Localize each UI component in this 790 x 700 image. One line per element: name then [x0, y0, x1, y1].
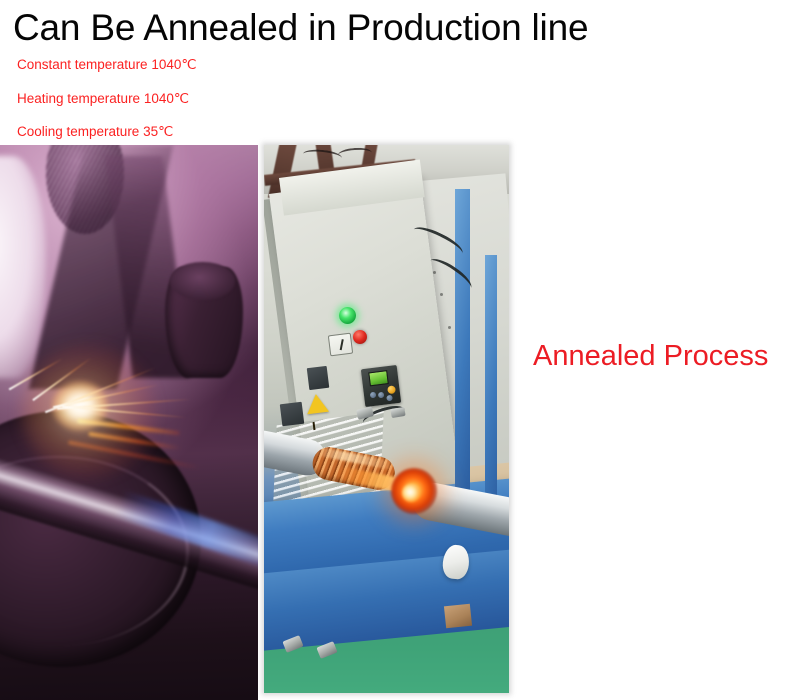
cabinet-label-plate	[280, 401, 305, 425]
machine-upright-post	[455, 189, 470, 507]
hmi-button[interactable]	[370, 392, 377, 399]
page-title: Can Be Annealed in Production line	[13, 6, 588, 50]
analog-gauge	[328, 333, 353, 357]
induction-hot-zone-core	[402, 484, 420, 502]
photo-annealing-spark	[0, 145, 258, 700]
annealed-process-caption: Annealed Process	[533, 339, 768, 373]
cardboard-shield	[444, 604, 472, 629]
photo-induction-line	[264, 145, 509, 693]
machine-upright-post	[485, 255, 497, 529]
hmi-rotary-knob[interactable]	[387, 385, 396, 394]
hmi-display-screen	[368, 370, 389, 386]
cabinet-label-plate	[307, 366, 329, 390]
hmi-button[interactable]	[378, 392, 385, 399]
warning-triangle-icon	[305, 393, 329, 415]
tool-holder-boss-top	[170, 262, 235, 301]
hmi-button[interactable]	[386, 395, 393, 402]
spec-cooling-temperature: Cooling temperature 35℃	[17, 124, 173, 140]
hmi-controller[interactable]	[361, 365, 401, 407]
wall-speck	[448, 326, 451, 329]
power-indicator-lamp[interactable]	[339, 307, 356, 324]
spec-constant-temperature: Constant temperature 1040℃	[17, 57, 197, 73]
gauge-needle-icon	[340, 339, 344, 350]
spec-heating-temperature: Heating temperature 1040℃	[17, 91, 189, 107]
